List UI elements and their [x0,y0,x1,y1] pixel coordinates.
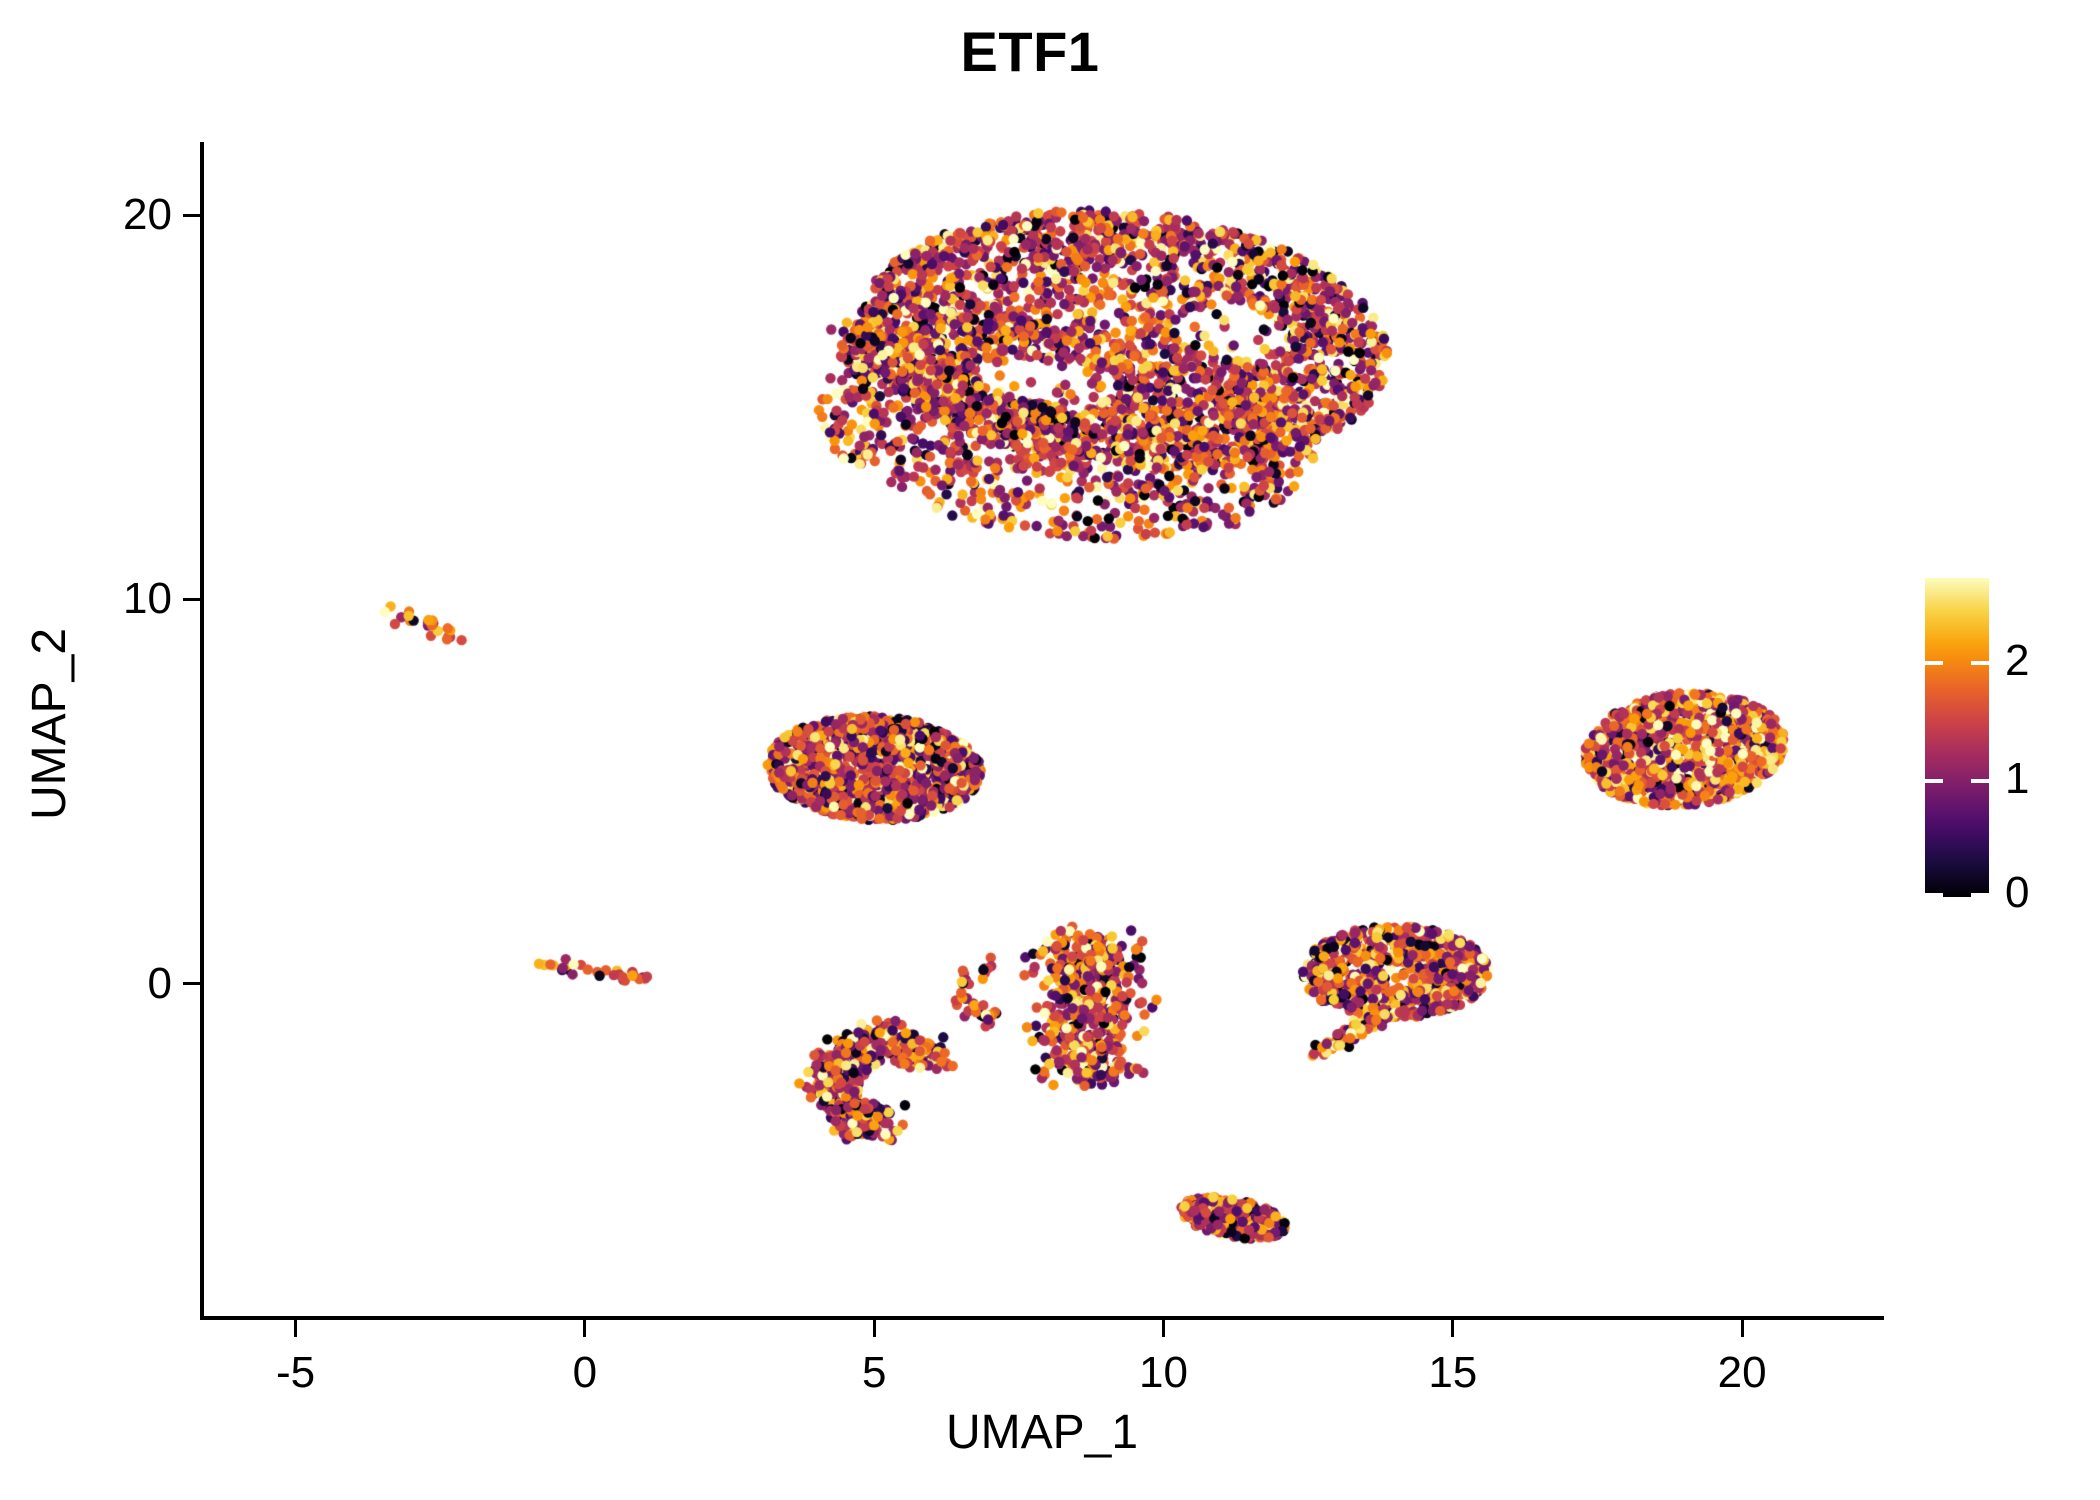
x-tick-mark [1162,1320,1165,1337]
colorbar-tick-mark [1925,779,1943,783]
colorbar-gradient [1925,578,1989,897]
colorbar-tick-label: 1 [2005,752,2029,806]
x-axis-line [200,1316,1884,1320]
y-tick-label: 20 [0,188,172,242]
colorbar-tick-mark [1925,661,1943,665]
x-axis-title: UMAP_1 [203,1404,1881,1462]
colorbar-legend: 012 [1925,578,2095,908]
x-tick-mark [1451,1320,1454,1337]
colorbar-tick-mark [1925,893,1943,897]
x-tick-mark [1741,1320,1744,1337]
page-title: ETF1 [0,18,2060,86]
x-tick-label: 10 [1104,1346,1224,1400]
x-tick-mark [294,1320,297,1337]
y-axis-title: UMAP_2 [21,344,79,1104]
plot-panel [203,142,1881,1314]
x-tick-label: -5 [236,1346,356,1400]
colorbar-tick-mark [1971,779,1989,783]
y-tick-mark [183,214,200,217]
colorbar-tick-mark [1971,893,1989,897]
x-tick-label: 5 [814,1346,934,1400]
x-tick-label: 0 [525,1346,645,1400]
y-axis-line [200,142,204,1320]
umap-feature-plot: ETF1 -505101520 01020 UMAP_1 UMAP_2 012 [0,0,2100,1500]
y-tick-mark [183,598,200,601]
x-tick-mark [873,1320,876,1337]
x-tick-label: 15 [1393,1346,1513,1400]
x-tick-label: 20 [1682,1346,1802,1400]
colorbar-tick-mark [1971,661,1989,665]
x-tick-mark [583,1320,586,1337]
scatter-plot-canvas [203,142,1881,1314]
y-tick-mark [183,982,200,985]
colorbar-tick-label: 2 [2005,634,2029,688]
colorbar-tick-label: 0 [2005,866,2029,920]
